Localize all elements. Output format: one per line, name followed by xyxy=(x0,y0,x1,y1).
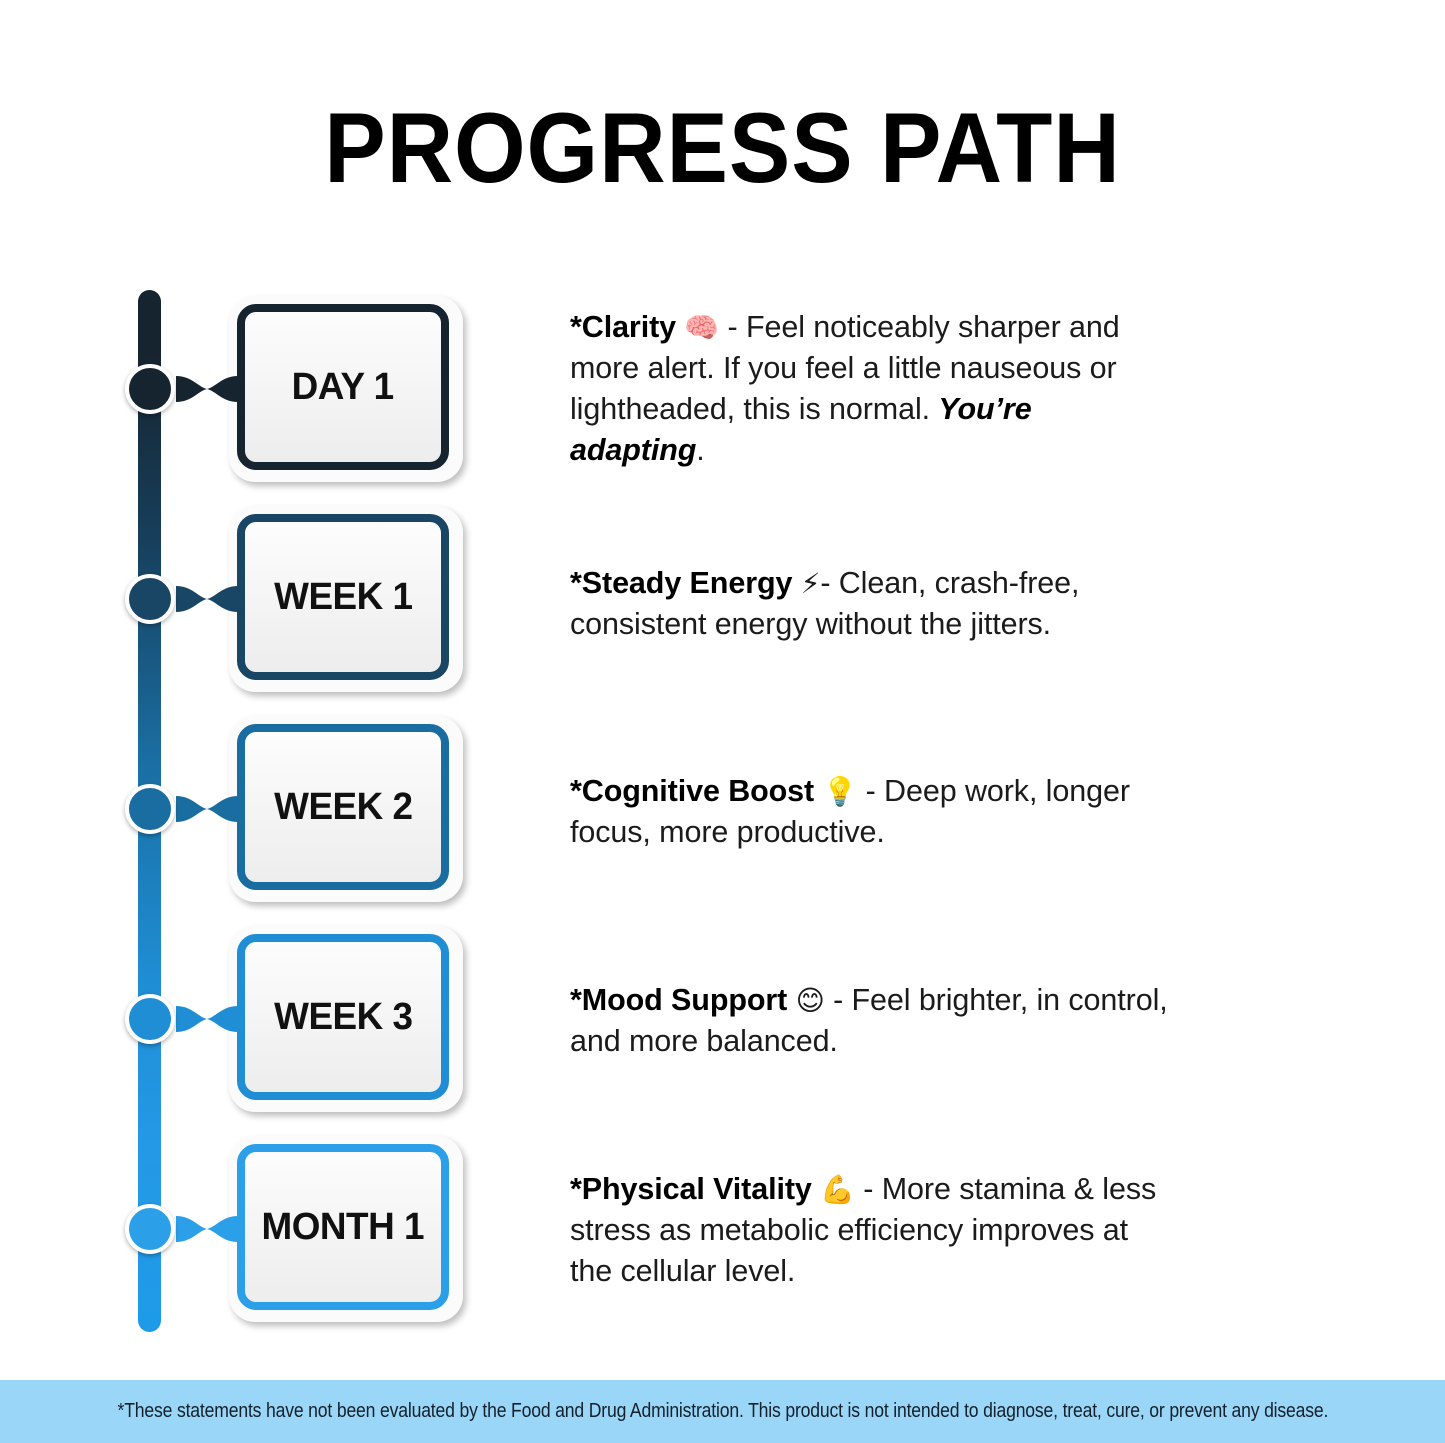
milestone-card[interactable]: WEEK 3 xyxy=(229,926,463,1112)
milestone-card-inner: WEEK 3 xyxy=(237,934,449,1100)
bowtie-connector-icon xyxy=(176,792,238,826)
milestone-card-label: DAY 1 xyxy=(292,366,394,409)
bowtie-connector-icon xyxy=(176,1212,238,1246)
timeline-node-icon xyxy=(125,364,175,414)
timeline-node-icon xyxy=(125,1204,175,1254)
milestone-card-label: MONTH 1 xyxy=(262,1206,424,1249)
brain-emoji: 🧠 xyxy=(684,311,719,344)
milestone-card[interactable]: WEEK 2 xyxy=(229,716,463,902)
infographic-page: PROGRESS PATH DAY 1WEEK 1WEEK 2WEEK 3MON… xyxy=(0,0,1445,1443)
bowtie-connector-icon xyxy=(176,582,238,616)
milestone-card-inner: DAY 1 xyxy=(237,304,449,470)
milestone-card[interactable]: WEEK 1 xyxy=(229,506,463,692)
timeline-node-icon xyxy=(125,994,175,1044)
timeline-node-icon xyxy=(125,574,175,624)
milestone-heading: *Clarity xyxy=(570,310,676,344)
milestone-description: *Physical Vitality 💪 - More stamina & le… xyxy=(570,1169,1170,1292)
milestone-description: *Mood Support 😊 - Feel brighter, in cont… xyxy=(570,980,1170,1062)
bowtie-connector-icon xyxy=(176,372,238,406)
milestone-card-inner: WEEK 2 xyxy=(237,724,449,890)
milestone-heading: *Steady Energy xyxy=(570,566,792,600)
fda-disclaimer-text: *These statements have not been evaluate… xyxy=(117,1398,1328,1425)
smiling-face-emoji: 😊 xyxy=(796,984,825,1017)
timeline-node-icon xyxy=(125,784,175,834)
lightning-bolt-emoji: ⚡ xyxy=(801,567,821,600)
flexed-biceps-emoji: 💪 xyxy=(820,1173,855,1206)
milestone-heading: *Mood Support xyxy=(570,983,787,1017)
milestone-description: *Clarity 🧠 - Feel noticeably sharper and… xyxy=(570,307,1170,471)
milestone-description: *Steady Energy ⚡- Clean, crash-free, con… xyxy=(570,563,1170,645)
milestone-card[interactable]: MONTH 1 xyxy=(229,1136,463,1322)
milestone-card[interactable]: DAY 1 xyxy=(229,296,463,482)
milestone-heading: *Physical Vitality xyxy=(570,1172,812,1206)
fda-disclaimer-banner: *These statements have not been evaluate… xyxy=(0,1380,1445,1443)
bowtie-connector-icon xyxy=(176,1002,238,1036)
milestone-card-inner: WEEK 1 xyxy=(237,514,449,680)
light-bulb-emoji: 💡 xyxy=(822,775,857,808)
milestone-card-label: WEEK 1 xyxy=(274,576,412,619)
milestone-card-inner: MONTH 1 xyxy=(237,1144,449,1310)
milestone-heading: *Cognitive Boost xyxy=(570,774,814,808)
milestone-body-tail: . xyxy=(696,433,704,467)
milestone-card-label: WEEK 3 xyxy=(274,996,412,1039)
milestone-card-label: WEEK 2 xyxy=(274,786,412,829)
milestone-description: *Cognitive Boost 💡 - Deep work, longer f… xyxy=(570,771,1170,853)
